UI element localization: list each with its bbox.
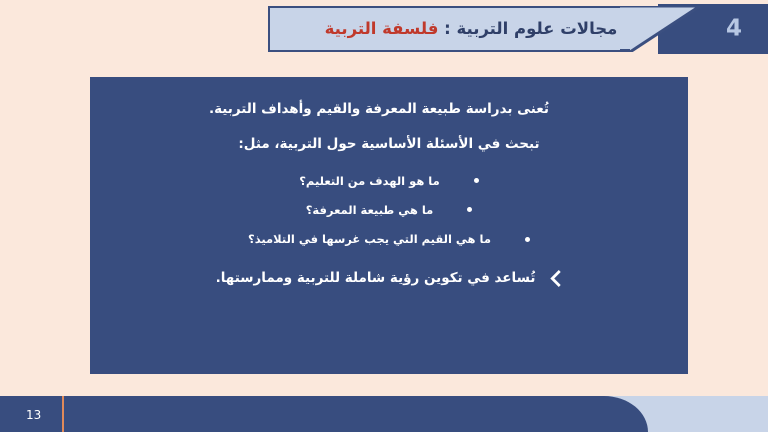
content-panel: تُعنى بدراسة طبيعة المعرفة والقيم وأهداف… — [90, 77, 688, 374]
slide-footer: 13 — [0, 396, 768, 432]
lead-line-questions-intro: تبحث في الأسئلة الأساسية حول التربية، مث… — [124, 134, 654, 155]
page-title: مجالات علوم التربية : فلسفة التربية — [325, 21, 618, 38]
lead-line-definition: تُعنى بدراسة طبيعة المعرفة والقيم وأهداف… — [124, 99, 654, 120]
bullet-dot-icon — [525, 237, 530, 242]
list-item: ما هي طبيعة المعرفة؟ — [124, 202, 654, 218]
slide-number-badge: 4 — [726, 18, 742, 41]
footer-page-number: 13 — [26, 409, 41, 421]
bullet-dot-icon — [474, 178, 479, 183]
list-item: ما هو الهدف من التعليم؟ — [124, 173, 654, 189]
slide-canvas: 4 مجالات علوم التربية : فلسفة التربية تُ… — [0, 0, 768, 432]
list-item: ما هي القيم التي يجب غرسها في التلاميذ؟ — [124, 231, 654, 247]
list-item-label: ما هي طبيعة المعرفة؟ — [306, 202, 434, 218]
bullet-dot-icon — [467, 207, 472, 212]
chevron-left-icon — [549, 270, 562, 287]
footer-navy-band — [0, 396, 648, 432]
list-item-label: ما هي القيم التي يجب غرسها في التلاميذ؟ — [248, 231, 491, 247]
page-title-accent: فلسفة التربية — [325, 19, 439, 38]
list-item-label: ما هو الهدف من التعليم؟ — [299, 173, 439, 189]
question-list: ما هو الهدف من التعليم؟ ما هي طبيعة المع… — [124, 173, 654, 247]
conclusion-row: تُساعد في تكوين رؤية شاملة للتربية وممار… — [124, 269, 654, 288]
slide-header: 4 مجالات علوم التربية : فلسفة التربية — [0, 0, 768, 58]
title-banner: مجالات علوم التربية : فلسفة التربية — [268, 6, 700, 52]
conclusion-label: تُساعد في تكوين رؤية شاملة للتربية وممار… — [216, 269, 536, 288]
page-title-main: مجالات علوم التربية : — [438, 19, 617, 38]
footer-divider — [62, 396, 64, 432]
